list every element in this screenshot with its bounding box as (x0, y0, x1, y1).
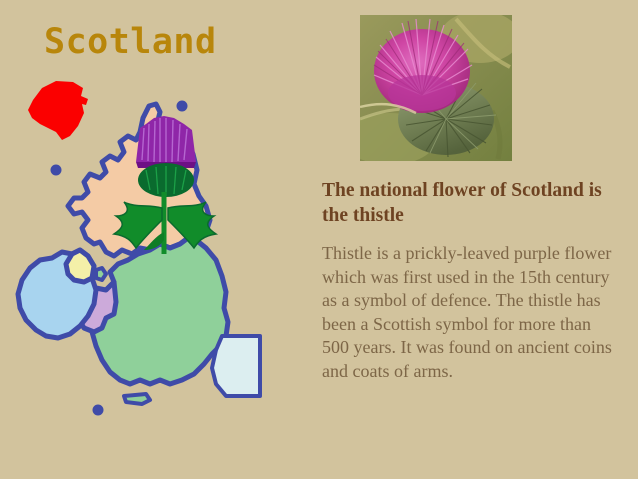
body-paragraph: Thistle is a prickly-leaved purple flowe… (322, 242, 612, 383)
map-region-isle-of-man (96, 268, 106, 280)
thistle-flower-head (136, 116, 196, 168)
body-heading: The national flower of Scotland is the t… (322, 178, 612, 228)
page-title: Scotland (44, 22, 217, 62)
thistle-calyx (138, 163, 194, 197)
map-island-outer-hebrides (52, 166, 60, 174)
map-region-continental-europe (212, 336, 260, 396)
thistle-emblem-clipart (110, 112, 228, 257)
thistle-leaf-right (168, 202, 216, 248)
map-island-scilly (94, 406, 102, 414)
map-island-shetland (178, 102, 186, 110)
map-island-south (124, 394, 150, 404)
text-column: The national flower of Scotland is the t… (322, 178, 612, 383)
map-region-northern-ireland (66, 250, 94, 282)
slide-canvas: Scotland (0, 0, 638, 479)
thistle-photograph (360, 15, 512, 161)
